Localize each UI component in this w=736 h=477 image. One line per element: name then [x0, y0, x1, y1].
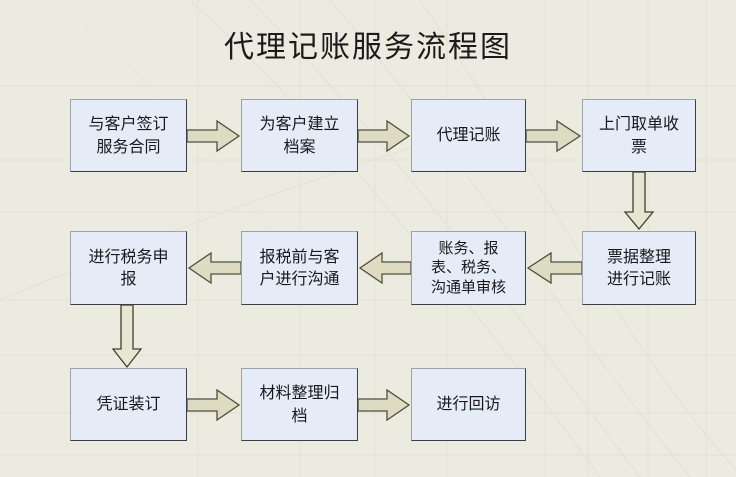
connector-n2-to-n3: [358, 118, 411, 154]
node-label-line1: 与客户签订: [88, 113, 168, 135]
node-material-filing[interactable]: 材料整理归 档: [241, 368, 358, 441]
connector-n5-to-n6: [526, 250, 582, 286]
connector-n6-to-n7: [358, 250, 411, 286]
node-agency-bookkeeping[interactable]: 代理记账: [411, 99, 526, 172]
connector-n3-to-n4: [526, 118, 582, 154]
node-label-line1: 为客户建立: [259, 113, 339, 135]
connector-n10-to-n11: [358, 387, 411, 423]
node-label-line2: 票: [599, 136, 679, 158]
node-label-line1: 进行回访: [436, 393, 500, 415]
node-accounts-reports-tax-review[interactable]: 账务、报 表、税务、 沟通单审核: [411, 231, 526, 305]
node-label-line2: 表、税务、: [431, 258, 506, 278]
connector-n1-to-n2: [187, 118, 241, 154]
node-label-line3: 沟通单审核: [431, 278, 506, 298]
node-label-line1: 报税前与客: [259, 246, 339, 268]
node-tax-filing[interactable]: 进行税务申 报: [70, 231, 187, 305]
node-label-line2: 报: [88, 268, 168, 290]
connector-n8-to-n9: [110, 305, 144, 369]
node-label-line2: 档案: [259, 136, 339, 158]
node-label-line1: 代理记账: [436, 124, 500, 146]
connector-n4-to-n5: [622, 172, 656, 231]
node-label-line2: 进行记账: [607, 268, 671, 290]
flowchart-canvas: 代理记账服务流程图 与客户签订 服务合同: [0, 0, 736, 477]
node-voucher-binding[interactable]: 凭证装订: [70, 368, 187, 441]
node-create-client-archive[interactable]: 为客户建立 档案: [241, 99, 358, 172]
node-label-line1: 凭证装订: [96, 393, 160, 415]
node-collect-invoices-onsite[interactable]: 上门取单收 票: [582, 99, 696, 172]
node-label-line2: 户进行沟通: [259, 268, 339, 290]
node-label-line1: 进行税务申: [88, 246, 168, 268]
node-organize-bills-bookkeeping[interactable]: 票据整理 进行记账: [582, 231, 696, 305]
node-follow-up-visit[interactable]: 进行回访: [411, 368, 526, 441]
node-sign-service-contract[interactable]: 与客户签订 服务合同: [70, 99, 187, 172]
connector-n9-to-n10: [187, 387, 241, 423]
node-label-line1: 上门取单收: [599, 113, 679, 135]
connector-n7-to-n8: [187, 250, 241, 286]
node-communicate-before-filing[interactable]: 报税前与客 户进行沟通: [241, 231, 358, 305]
node-label-line2: 档: [259, 405, 339, 427]
node-label-line1: 账务、报: [431, 239, 506, 259]
node-label-line1: 票据整理: [607, 246, 671, 268]
page-title: 代理记账服务流程图: [0, 22, 736, 66]
node-label-line1: 材料整理归: [259, 382, 339, 404]
node-label-line2: 服务合同: [88, 136, 168, 158]
